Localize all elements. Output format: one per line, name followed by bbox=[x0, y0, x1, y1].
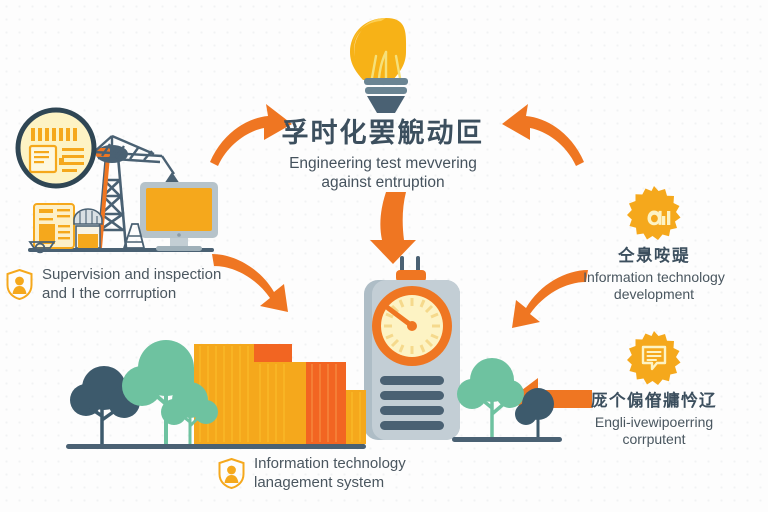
caption-left-text: Supervision and inspection and I the cor… bbox=[42, 266, 221, 304]
right-block-1-en: Information technology development bbox=[548, 269, 760, 304]
lightbulb-icon bbox=[338, 12, 434, 122]
right-block-info-tech-development: 仝臮咹䜻 Information technology development bbox=[548, 185, 760, 304]
center-heading-en: Engineering test mevvering against entru… bbox=[258, 154, 508, 193]
caption-info-tech-management: Information technology lanagement system bbox=[218, 455, 518, 493]
caption-left-line2: and I the corrruption bbox=[42, 285, 176, 302]
center-heading-en-line2: against entruption bbox=[258, 173, 508, 192]
document-badge-icon bbox=[626, 330, 682, 386]
right-block-1-en-line2: development bbox=[548, 286, 760, 304]
caption-bottom-text: Information technology lanagement system bbox=[254, 455, 406, 493]
caption-supervision-inspection: Supervision and inspection and I the cor… bbox=[6, 266, 256, 304]
infographic-canvas: 孚时化罢觬动叵 Engineering test mevvering again… bbox=[0, 0, 768, 512]
center-heading-cn: 孚时化罢觬动叵 bbox=[258, 118, 508, 149]
right-block-2-cn: 厐个傓傄牅忴辽 bbox=[548, 392, 760, 412]
right-block-2-en-line2: corrputent bbox=[548, 431, 760, 449]
right-trees-decoration bbox=[452, 352, 562, 452]
right-block-2-en-line1: Engli-ivewipoerring bbox=[548, 414, 760, 432]
arrow-up-right-to-center bbox=[500, 100, 590, 172]
bar-chart-badge-icon bbox=[626, 185, 682, 241]
bar-chart-buildings-with-trees bbox=[66, 316, 366, 466]
caption-left-line1: Supervision and inspection bbox=[42, 266, 221, 283]
caption-bottom-line2: lanagement system bbox=[254, 474, 384, 491]
caption-bottom-line1: Information technology bbox=[254, 455, 406, 472]
center-heading-en-line1: Engineering test mevvering bbox=[258, 154, 508, 173]
shield-person-icon bbox=[218, 458, 245, 489]
right-block-engineering-component: 厐个傓傄牅忴辽 Engli-ivewipoerring corrputent bbox=[548, 330, 760, 449]
right-block-1-en-line1: Information technology bbox=[548, 269, 760, 287]
center-heading: 孚时化罢觬动叵 Engineering test mevvering again… bbox=[258, 118, 508, 193]
right-block-1-cn: 仝臮咹䜻 bbox=[548, 247, 760, 267]
construction-crane-monitor-scene bbox=[2, 96, 234, 266]
right-block-2-en: Engli-ivewipoerring corrputent bbox=[548, 414, 760, 449]
shield-person-icon bbox=[6, 269, 33, 300]
